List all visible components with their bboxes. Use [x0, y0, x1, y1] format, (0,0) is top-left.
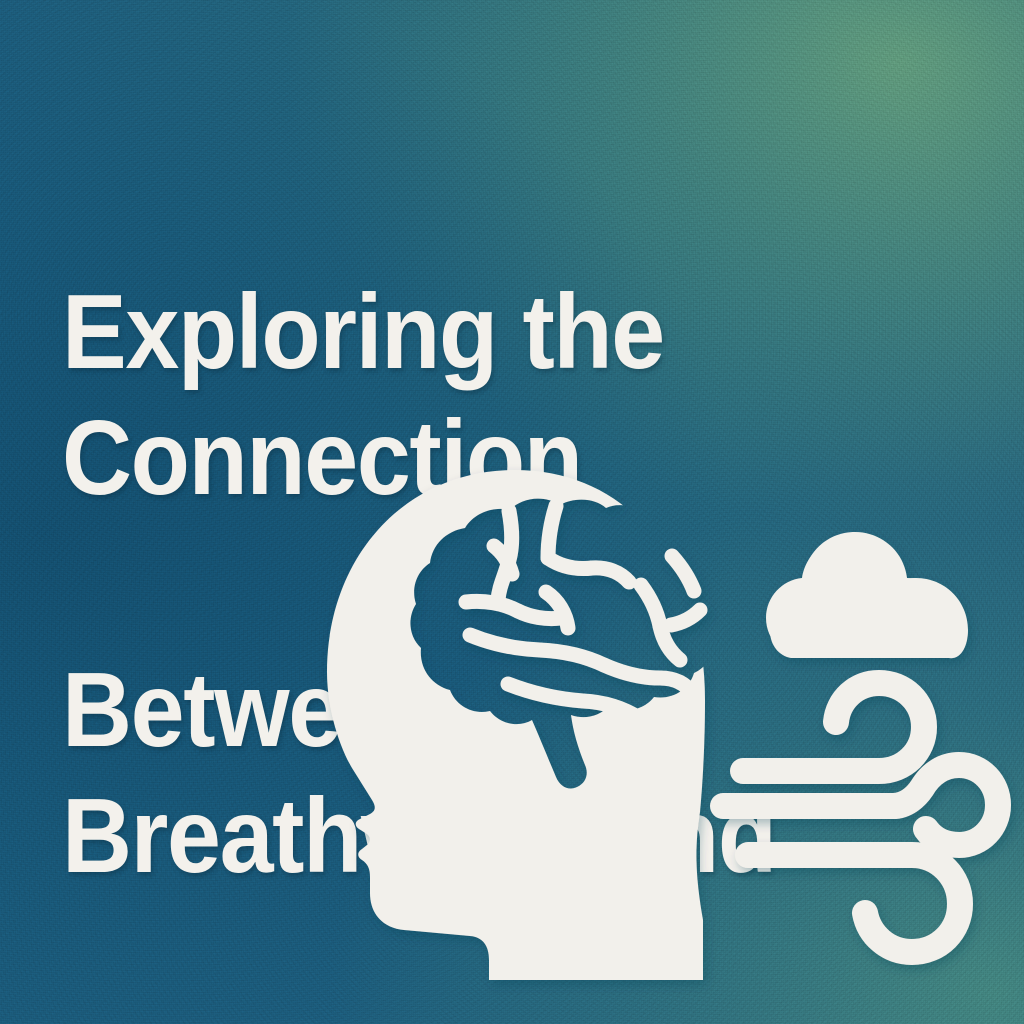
headline-line-1: Exploring the Connection	[62, 269, 968, 521]
page-title: Exploring the Connection Between Breathw…	[62, 143, 968, 1024]
headline-line-2: Between Breathwork and	[62, 647, 968, 899]
poster-canvas: Exploring the Connection Between Breathw…	[0, 0, 1024, 1024]
